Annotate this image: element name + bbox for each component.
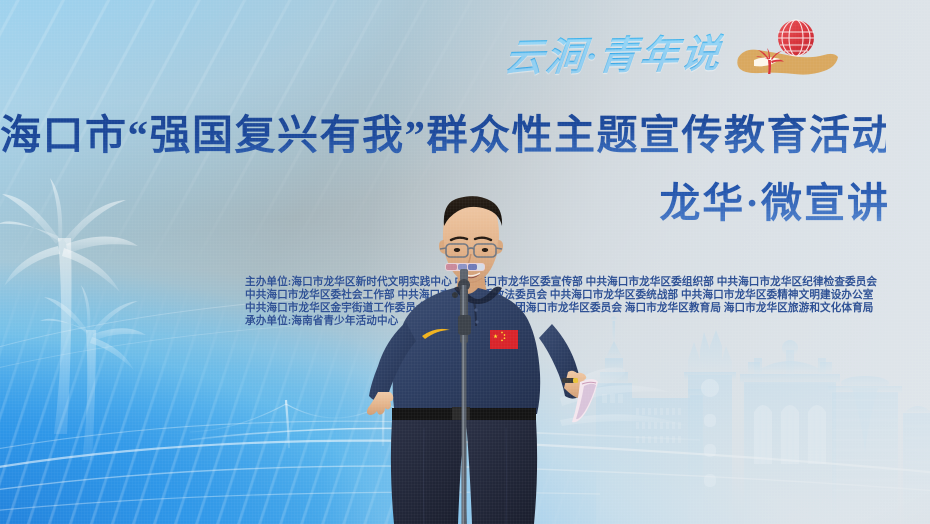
eye-left bbox=[454, 248, 460, 252]
brand-name-calligraphy: 云洞·青年说 bbox=[502, 23, 725, 84]
church-window-mullions bbox=[760, 410, 820, 464]
church-facade-silhouette bbox=[740, 340, 840, 524]
ear-left bbox=[439, 240, 445, 254]
church-windows bbox=[754, 405, 826, 464]
palm-tree-silhouette-left-2 bbox=[40, 285, 146, 460]
haikou-wave-sun-palm-emblem-icon bbox=[730, 16, 840, 90]
floor-microphone-stand bbox=[443, 255, 487, 524]
event-stage-backdrop-photo: 云洞·青年说 bbox=[0, 0, 930, 524]
mic-height-clamp bbox=[458, 315, 471, 335]
right-arm-holding-papers bbox=[539, 324, 598, 422]
eye-right bbox=[482, 248, 488, 252]
bell-tower-details bbox=[701, 379, 719, 487]
brand-logo-group: 云洞·青年说 bbox=[505, 14, 895, 92]
clock-tower-windows bbox=[602, 394, 681, 443]
gothic-bell-tower-silhouette bbox=[684, 330, 736, 524]
watch-face bbox=[573, 378, 578, 383]
event-main-title: 海口市“强国复兴有我”群众性主题宣传教育活动 bbox=[0, 101, 886, 161]
modern-tower-floors bbox=[833, 400, 930, 490]
clock-tower-silhouette bbox=[596, 316, 705, 524]
emblem-sun-globe bbox=[778, 20, 814, 56]
mic-adjust-screw bbox=[452, 292, 458, 298]
china-flag-patch bbox=[490, 330, 518, 349]
ear-right bbox=[497, 240, 503, 254]
modern-tower-silhouette bbox=[828, 376, 930, 524]
